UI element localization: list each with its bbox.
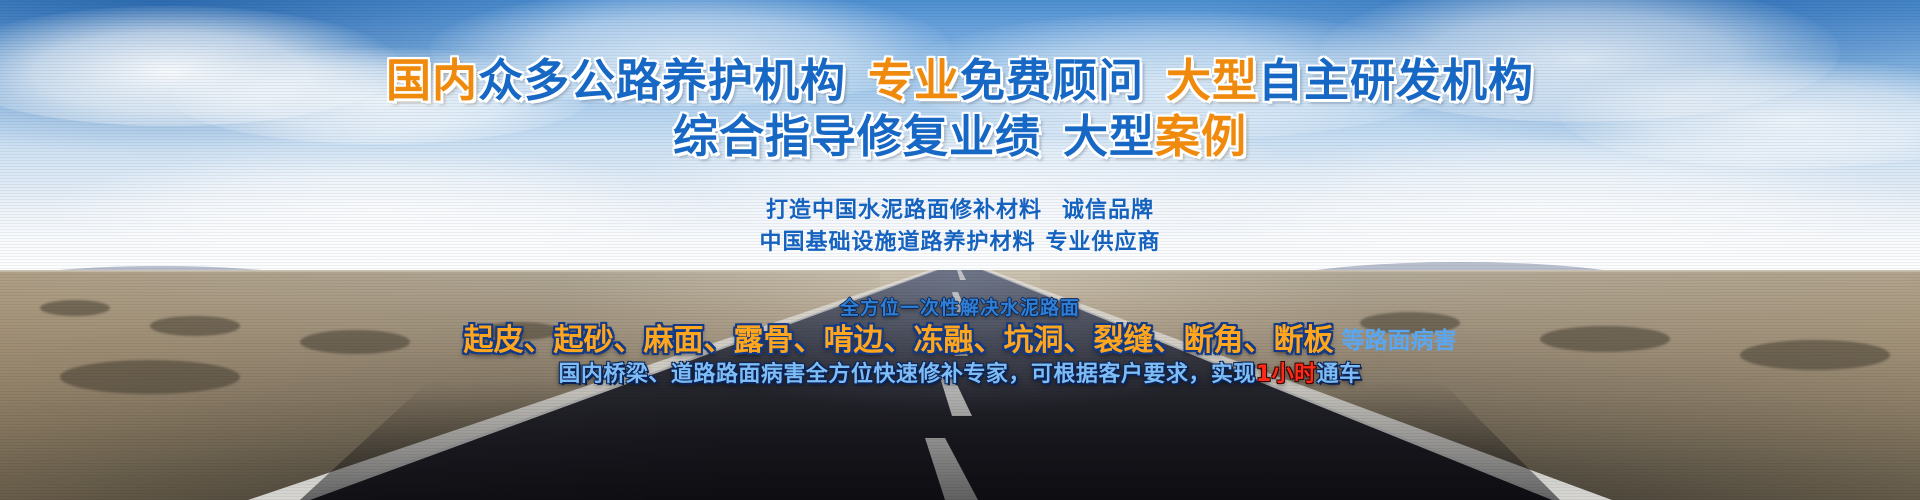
banner-text-layer: 国内众多公路养护机构专业免费顾问大型自主研发机构 综合指导修复业绩大型案例 打造… [0, 0, 1920, 500]
subheadline-2-main: 中国基础设施道路养护材料 [759, 230, 1035, 255]
tagline-text-start: 国内桥梁、道路路面病害全方位快速修补专家，可根据客户要求，实现 [558, 362, 1256, 387]
defects-list: 起皮、起砂、麻面、露骨、啃边、冻融、坑洞、裂缝、断角、断板等路面病害 [0, 315, 1920, 359]
subheadline-1-tag: 诚信品牌 [1062, 198, 1154, 223]
headline-segment-blue: 大型 [1063, 110, 1155, 163]
defects-list-suffix: 等路面病害 [1342, 328, 1457, 354]
subheadline-1-main: 打造中国水泥路面修补材料 [766, 198, 1042, 223]
promo-banner: 国内众多公路养护机构专业免费顾问大型自主研发机构 综合指导修复业绩大型案例 打造… [0, 0, 1920, 500]
tagline-highlight: 1小时 [1256, 362, 1317, 387]
tagline: 国内桥梁、道路路面病害全方位快速修补专家，可根据客户要求，实现1小时通车 [0, 356, 1920, 388]
headline-segment-blue: 综合指导修复业绩 [673, 110, 1041, 163]
subheadline-2-tag: 专业供应商 [1046, 230, 1161, 255]
headline-line-2: 综合指导修复业绩大型案例 [0, 100, 1920, 165]
defects-list-items: 起皮、起砂、麻面、露骨、啃边、冻融、坑洞、裂缝、断角、断板 [464, 323, 1334, 358]
tagline-text-end: 通车 [1317, 362, 1362, 387]
subheadline-line-2: 中国基础设施道路养护材料专业供应商 [0, 224, 1920, 256]
subheadline-line-1: 打造中国水泥路面修补材料诚信品牌 [0, 192, 1920, 224]
headline-segment-orange: 案例 [1155, 110, 1247, 163]
